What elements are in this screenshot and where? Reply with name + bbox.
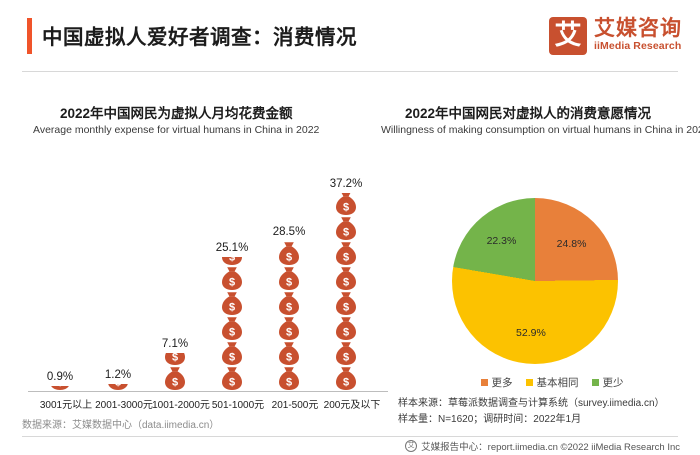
bar-value-label: 0.9%	[47, 371, 73, 383]
svg-text:$: $	[172, 353, 178, 363]
page-title: 中国虚拟人爱好者调查：消费情况	[42, 20, 357, 50]
legend-label: 更少	[603, 375, 624, 390]
bar-category-label: 200元及以下	[324, 396, 381, 411]
bar-value-label: 1.2%	[105, 369, 131, 381]
money-bag-stack: $$$$$$	[220, 257, 244, 390]
brand-logo: 艾 艾媒咨询 iiMedia Research	[549, 14, 682, 58]
page-header: 中国虚拟人爱好者调查：消费情况 艾 艾媒咨询 iiMedia Research	[0, 0, 700, 72]
logo-mark-icon: 艾	[549, 17, 587, 55]
svg-text:$: $	[286, 301, 292, 313]
svg-text:$: $	[229, 326, 235, 338]
bar-value-label: 7.1%	[162, 338, 188, 350]
bar-column[interactable]: 28.5%$$$$$$	[266, 226, 312, 391]
svg-text:$: $	[286, 326, 292, 338]
svg-text:$: $	[343, 326, 349, 338]
logo-name-en: iiMedia Research	[594, 40, 682, 54]
svg-text:$: $	[343, 226, 349, 238]
money-bag-stack: $$$$$$	[277, 241, 301, 391]
left-chart-title: 2022年中国网民为虚拟人月均花费金额	[60, 102, 293, 122]
bar-chart-axis	[28, 391, 388, 393]
svg-text:$: $	[343, 201, 349, 213]
sample-source-line: 样本来源：草莓派数据调查与计算系统（survey.iimedia.cn）	[398, 396, 698, 412]
bar-column[interactable]: 25.1%$$$$$$	[209, 242, 255, 390]
svg-text:$: $	[172, 376, 178, 388]
svg-text:$: $	[229, 257, 235, 263]
bar-column[interactable]: 7.1%$$	[152, 338, 198, 391]
footer-text: 艾媒报告中心：report.iimedia.cn ©2022 iiMedia R…	[421, 439, 680, 453]
footer-divider	[22, 436, 678, 437]
legend-item[interactable]: 更多	[481, 375, 513, 390]
money-bag-stack: $$$$$$$$	[334, 193, 358, 390]
svg-text:$: $	[343, 276, 349, 288]
svg-text:$: $	[286, 251, 292, 263]
svg-text:$: $	[286, 276, 292, 288]
bar-column[interactable]: 0.9%$	[37, 371, 83, 391]
bar-category-label: 3001元以上	[40, 396, 92, 411]
pie-slice-value-label: 22.3%	[487, 235, 517, 247]
pie-slice-value-label: 52.9%	[516, 327, 546, 339]
svg-text:$: $	[57, 386, 63, 388]
bar-category-label: 201-500元	[272, 396, 319, 411]
legend-item[interactable]: 基本相同	[526, 375, 579, 390]
logo-name-cn: 艾媒咨询	[594, 18, 682, 40]
right-chart-title: 2022年中国网民对虚拟人的消费意愿情况	[405, 102, 651, 122]
page-footer: 艾 艾媒报告中心：report.iimedia.cn ©2022 iiMedia…	[405, 439, 680, 453]
svg-text:$: $	[343, 351, 349, 363]
legend-label: 更多	[492, 375, 513, 390]
money-bag-stack: $	[106, 384, 130, 390]
svg-text:$: $	[343, 301, 349, 313]
pie-chart-disc	[452, 198, 618, 364]
legend-swatch-icon	[481, 379, 488, 386]
svg-text:$: $	[343, 251, 349, 263]
pie-slice-value-label: 24.8%	[557, 238, 587, 250]
footer-logo-icon: 艾	[405, 440, 417, 452]
title-accent-bar	[27, 18, 32, 54]
header-divider	[22, 71, 678, 72]
svg-text:$: $	[286, 376, 292, 388]
svg-text:$: $	[229, 301, 235, 313]
svg-text:$: $	[115, 384, 121, 388]
svg-text:$: $	[343, 376, 349, 388]
left-chart-subtitle: Average monthly expense for virtual huma…	[33, 124, 319, 136]
legend-swatch-icon	[526, 379, 533, 386]
bar-category-label: 1001-2000元	[152, 396, 210, 411]
bar-category-label: 501-1000元	[212, 396, 264, 411]
legend-swatch-icon	[592, 379, 599, 386]
svg-text:$: $	[229, 351, 235, 363]
left-source-note: 数据来源：艾媒数据中心（data.iimedia.cn）	[22, 416, 219, 431]
bar-category-label: 2001-3000元	[95, 396, 153, 411]
bar-chart: 0.9%$1.2%$7.1%$$25.1%$$$$$$28.5%$$$$$$37…	[22, 160, 390, 392]
money-bag-stack: $$	[163, 353, 187, 391]
bar-column[interactable]: 37.2%$$$$$$$$	[323, 178, 369, 390]
pie-chart-legend: 更多基本相同更少	[452, 375, 652, 390]
svg-text:$: $	[229, 276, 235, 288]
sample-size-line: 样本量：N=1620；调研时间：2022年1月	[398, 412, 698, 428]
bar-value-label: 25.1%	[216, 242, 249, 254]
bar-chart-category-labels: 3001元以上2001-3000元1001-2000元501-1000元201-…	[22, 396, 390, 412]
pie-chart	[452, 198, 618, 364]
right-chart-subtitle: Willingness of making consumption on vir…	[381, 124, 700, 136]
bar-value-label: 37.2%	[330, 178, 363, 190]
bar-value-label: 28.5%	[273, 226, 306, 238]
money-bag-stack: $	[48, 386, 72, 391]
legend-item[interactable]: 更少	[592, 375, 624, 390]
bar-column[interactable]: 1.2%$	[95, 369, 141, 390]
svg-text:$: $	[229, 376, 235, 388]
right-sample-notes: 样本来源：草莓派数据调查与计算系统（survey.iimedia.cn） 样本量…	[398, 396, 698, 428]
legend-label: 基本相同	[537, 375, 579, 390]
logo-text: 艾媒咨询 iiMedia Research	[594, 18, 682, 54]
svg-text:$: $	[286, 351, 292, 363]
